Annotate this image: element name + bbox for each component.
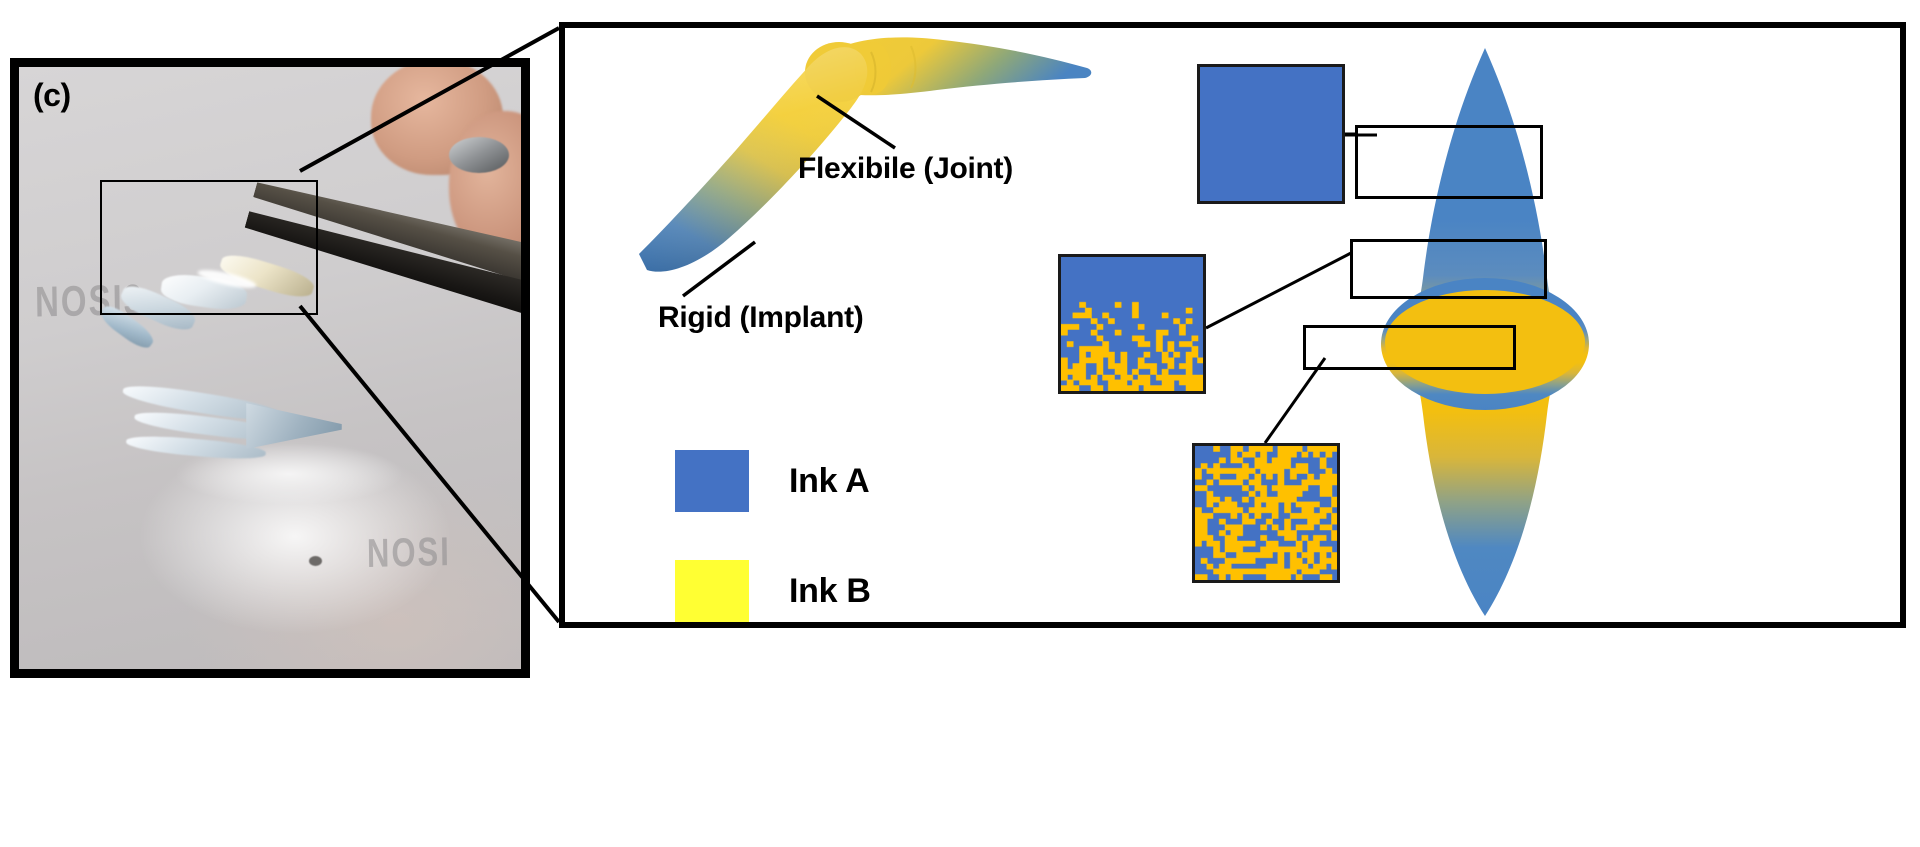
callout-top: [1355, 125, 1543, 199]
ink-legend: Ink A Ink B: [675, 444, 871, 628]
label-rigid-implant: Rigid (Implant): [658, 301, 863, 335]
legend-swatch-ink-b: [675, 560, 749, 622]
inset-top-pure-ink-a: [1197, 64, 1345, 204]
schematic-panel: Flexibile (Joint) Rigid (Implant) Ink A …: [559, 22, 1906, 628]
watch-reflection: [449, 137, 509, 173]
label-flexible-joint: Flexibile (Joint): [798, 152, 1013, 186]
photo-watermark-2: NOSI: [367, 529, 451, 578]
legend-item-ink-b: Ink B: [675, 554, 871, 628]
legend-label-ink-a: Ink A: [789, 462, 869, 501]
callout-bottom: [1303, 325, 1516, 370]
legend-label-ink-b: Ink B: [789, 572, 871, 611]
callout-middle: [1350, 239, 1547, 299]
figure-canvas: NOSI3 NOSI (c): [0, 0, 1920, 847]
implant-cross-section-diagram: [1325, 42, 1885, 622]
panel-label-c: (c): [33, 77, 71, 114]
photo-dust-speck: [309, 556, 322, 566]
legend-item-ink-a: Ink A: [675, 444, 871, 518]
inset-middle-graded-transition: [1058, 254, 1206, 394]
second-printed-implant-on-surface: [114, 387, 344, 483]
legend-swatch-ink-a: [675, 450, 749, 512]
inset-bottom-fifty-fifty-mix: [1192, 443, 1340, 583]
region-of-interest-box: [100, 180, 318, 315]
photo-panel: NOSI3 NOSI (c): [10, 58, 530, 678]
